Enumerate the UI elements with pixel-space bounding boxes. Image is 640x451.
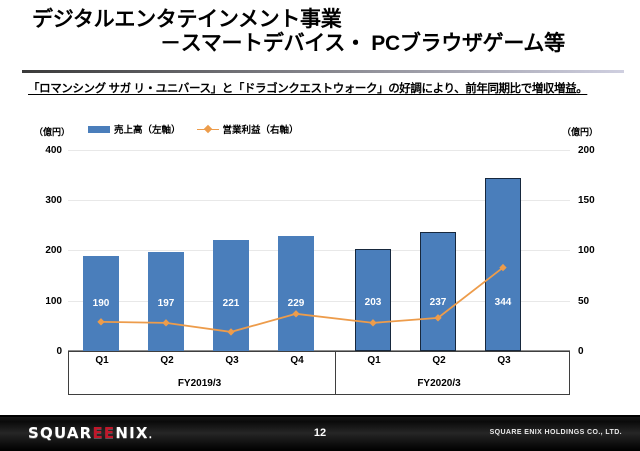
line-marker-3 <box>292 310 299 317</box>
category-label-3: Q4 <box>275 355 319 366</box>
footer-top-edge <box>0 415 640 417</box>
category-label-4: Q1 <box>352 355 396 366</box>
category-label-5: Q2 <box>417 355 461 366</box>
title-block: デジタルエンタテインメント事業 －スマートデバイス・ PCブラウザゲーム等 <box>0 8 640 55</box>
line-marker-2 <box>227 328 234 335</box>
page-title-line1: デジタルエンタテインメント事業 <box>0 8 640 32</box>
legend-label-operating-income: 営業利益（右軸） <box>223 122 299 136</box>
fiscal-year-label-1: FY2020/3 <box>389 378 489 389</box>
slide: デジタルエンタテインメント事業 －スマートデバイス・ PCブラウザゲーム等 「ロ… <box>0 0 640 451</box>
right-tick-0: 0 <box>578 346 618 357</box>
left-tick-300: 300 <box>22 195 62 206</box>
left-tick-100: 100 <box>22 296 62 307</box>
title-divider <box>22 70 624 73</box>
line-series-operating-income <box>68 150 570 351</box>
subtitle: 「ロマンシング サガ リ・ユニバース」と「ドラゴンクエストウォーク」の好調により… <box>28 80 587 96</box>
category-label-6: Q3 <box>482 355 526 366</box>
operating-income-line <box>101 268 503 332</box>
legend-label-revenue: 売上高（左軸） <box>114 122 181 136</box>
page-title-line2: －スマートデバイス・ PCブラウザゲーム等 <box>0 32 640 56</box>
copyright-text: SQUARE ENIX HOLDINGS CO., LTD. <box>490 429 622 436</box>
footer-bar: SQUAREENIX. 12 SQUARE ENIX HOLDINGS CO.,… <box>0 415 640 451</box>
fiscal-year-labels-row: FY2019/3FY2020/3 <box>69 374 569 396</box>
legend-item-revenue: 売上高（左軸） <box>88 122 181 136</box>
category-labels-row: Q1Q2Q3Q4Q1Q2Q3 <box>69 352 569 373</box>
left-tick-0: 0 <box>22 346 62 357</box>
left-axis-unit: （億円） <box>34 125 70 138</box>
left-tick-200: 200 <box>22 245 62 256</box>
subtitle-text: 「ロマンシング サガ リ・ユニバース」と「ドラゴンクエストウォーク」の好調により… <box>28 83 587 95</box>
category-label-1: Q2 <box>145 355 189 366</box>
fiscal-year-label-0: FY2019/3 <box>150 378 250 389</box>
legend-item-operating-income: 営業利益（右軸） <box>197 122 299 136</box>
right-tick-200: 200 <box>578 145 618 156</box>
category-axis: Q1Q2Q3Q4Q1Q2Q3 FY2019/3FY2020/3 <box>68 351 570 395</box>
line-marker-0 <box>97 318 104 325</box>
chart-legend: 売上高（左軸） 営業利益（右軸） <box>88 122 299 136</box>
right-axis-unit: （億円） <box>562 125 598 138</box>
right-tick-150: 150 <box>578 195 618 206</box>
right-tick-100: 100 <box>578 245 618 256</box>
plot-area: 190197221229203237344 <box>68 150 570 351</box>
category-label-0: Q1 <box>80 355 124 366</box>
line-marker-1 <box>162 319 169 326</box>
left-tick-400: 400 <box>22 145 62 156</box>
right-tick-50: 50 <box>578 296 618 307</box>
category-label-2: Q3 <box>210 355 254 366</box>
line-swatch-icon <box>197 125 219 134</box>
line-marker-4 <box>369 319 376 326</box>
chart: （億円） （億円） 売上高（左軸） 営業利益（右軸） 400 300 200 1… <box>0 112 640 412</box>
bar-swatch-icon <box>88 126 110 133</box>
